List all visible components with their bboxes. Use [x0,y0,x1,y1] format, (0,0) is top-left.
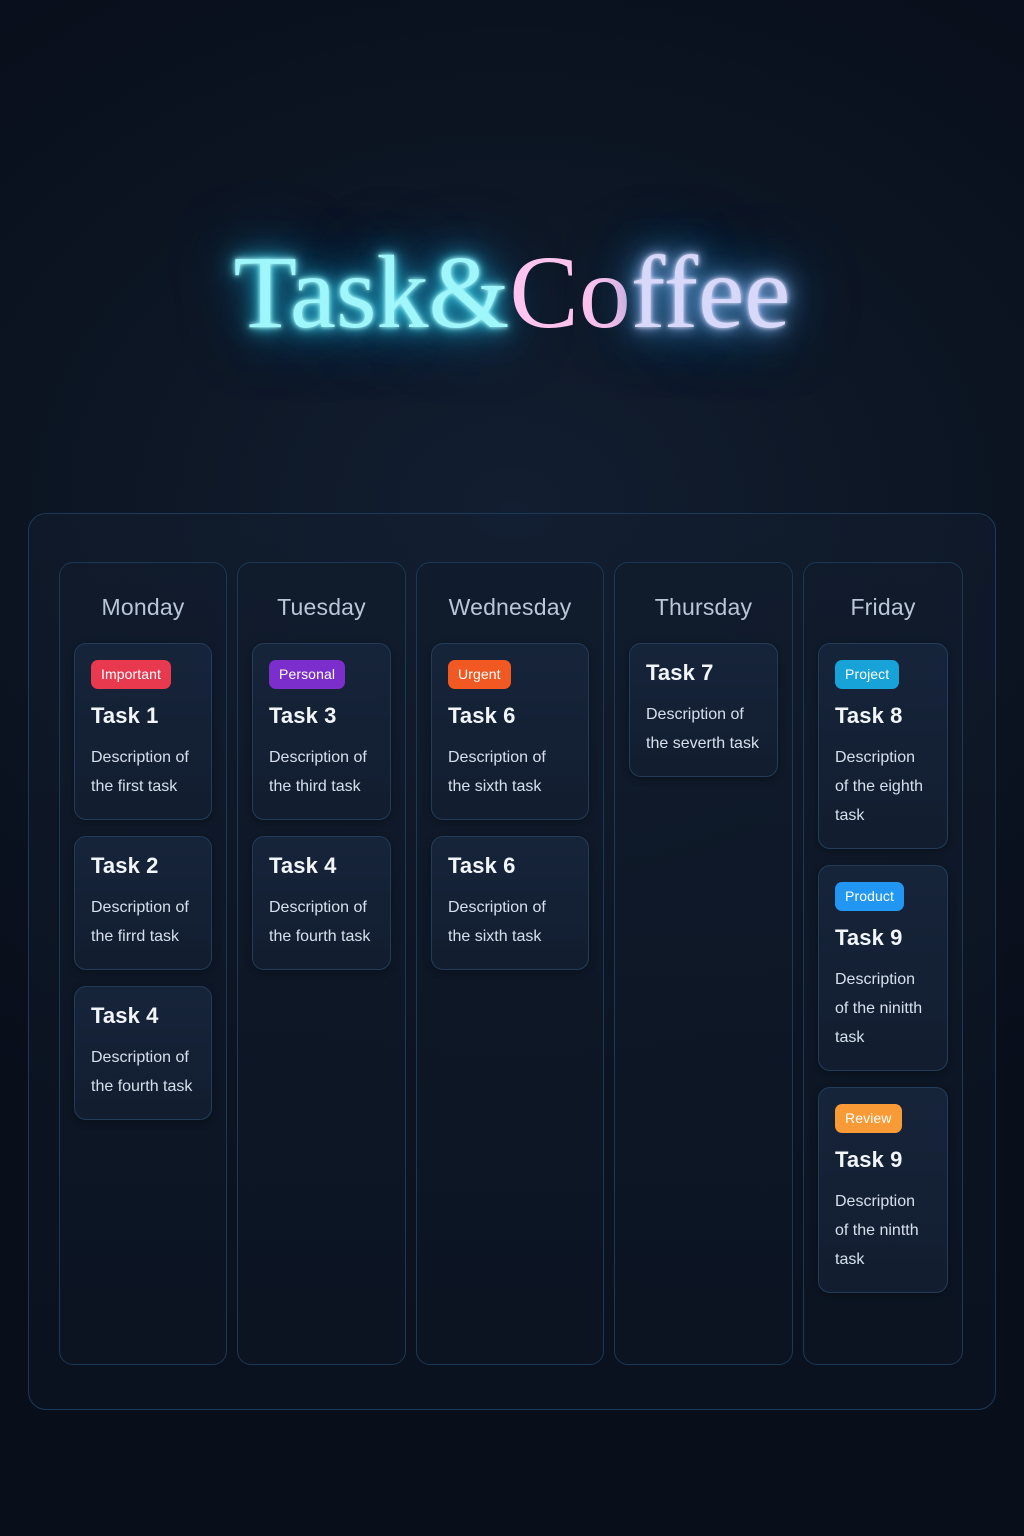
task-title: Task 9 [835,1147,931,1173]
task-badge-product[interactable]: Product [835,882,904,911]
task-title: Task 4 [269,853,374,879]
day-column-title: Tuesday [252,594,391,621]
task-card[interactable]: Task 4Description of the fourth task [252,836,391,970]
task-badge-important[interactable]: Important [91,660,171,689]
day-column-title: Monday [74,594,212,621]
task-badge-personal[interactable]: Personal [269,660,345,689]
task-title: Task 6 [448,853,572,879]
task-description: Description of the sixth task [448,893,572,951]
task-title: Task 8 [835,703,931,729]
task-description: Description of the eighth task [835,743,931,830]
task-description: Description of the sixth task [448,743,572,801]
task-description: Description of the fourth task [269,893,374,951]
task-card[interactable]: ProjectTask 8Description of the eighth t… [818,643,948,849]
day-column-tuesday[interactable]: TuesdayPersonalTask 3Description of the … [237,562,406,1365]
task-badge-review[interactable]: Review [835,1104,902,1133]
task-card-list: PersonalTask 3Description of the third t… [252,643,391,970]
title-segment-mid: ffee [631,235,791,350]
title-segment-pink: Co [509,235,630,350]
task-title: Task 7 [646,660,761,686]
day-column-title: Wednesday [431,594,589,621]
task-description: Description of the ninitth task [835,965,931,1052]
task-card-list: Task 7Description of the severth task [629,643,778,777]
task-card[interactable]: ImportantTask 1Description of the first … [74,643,212,820]
task-card[interactable]: Task 7Description of the severth task [629,643,778,777]
task-description: Description of the severth task [646,700,761,758]
app-title-banner: Task&Coffee [0,228,1024,368]
task-card[interactable]: ReviewTask 9Description of the nintth ta… [818,1087,948,1293]
task-badge-project[interactable]: Project [835,660,899,689]
task-description: Description of the third task [269,743,374,801]
title-segment-cyan: Task& [234,235,510,350]
task-description: Description of the fourth task [91,1043,195,1101]
task-card-list: UrgentTask 6Description of the sixth tas… [431,643,589,970]
page-title: Task&Coffee [234,228,791,358]
day-column-title: Friday [818,594,948,621]
task-description: Description of the nintth task [835,1187,931,1274]
task-title: Task 6 [448,703,572,729]
day-column-friday[interactable]: FridayProjectTask 8Description of the ei… [803,562,963,1365]
task-card-list: ImportantTask 1Description of the first … [74,643,212,1120]
day-column-thursday[interactable]: ThursdayTask 7Description of the severth… [614,562,793,1365]
task-badge-urgent[interactable]: Urgent [448,660,511,689]
task-title: Task 9 [835,925,931,951]
day-column-wednesday[interactable]: WednesdayUrgentTask 6Description of the … [416,562,604,1365]
task-card[interactable]: UrgentTask 6Description of the sixth tas… [431,643,589,820]
day-column-monday[interactable]: MondayImportantTask 1Description of the … [59,562,227,1365]
task-title: Task 1 [91,703,195,729]
task-card[interactable]: PersonalTask 3Description of the third t… [252,643,391,820]
task-card[interactable]: Task 6Description of the sixth task [431,836,589,970]
task-card[interactable]: Task 4Description of the fourth task [74,986,212,1120]
task-card[interactable]: ProductTask 9Description of the ninitth … [818,865,948,1071]
day-columns-container: MondayImportantTask 1Description of the … [59,562,965,1365]
task-card[interactable]: Task 2Description of the firrd task [74,836,212,970]
task-title: Task 4 [91,1003,195,1029]
task-description: Description of the firrd task [91,893,195,951]
task-title: Task 2 [91,853,195,879]
task-card-list: ProjectTask 8Description of the eighth t… [818,643,948,1293]
task-title: Task 3 [269,703,374,729]
weekly-task-board: MondayImportantTask 1Description of the … [28,513,996,1410]
day-column-title: Thursday [629,594,778,621]
task-description: Description of the first task [91,743,195,801]
